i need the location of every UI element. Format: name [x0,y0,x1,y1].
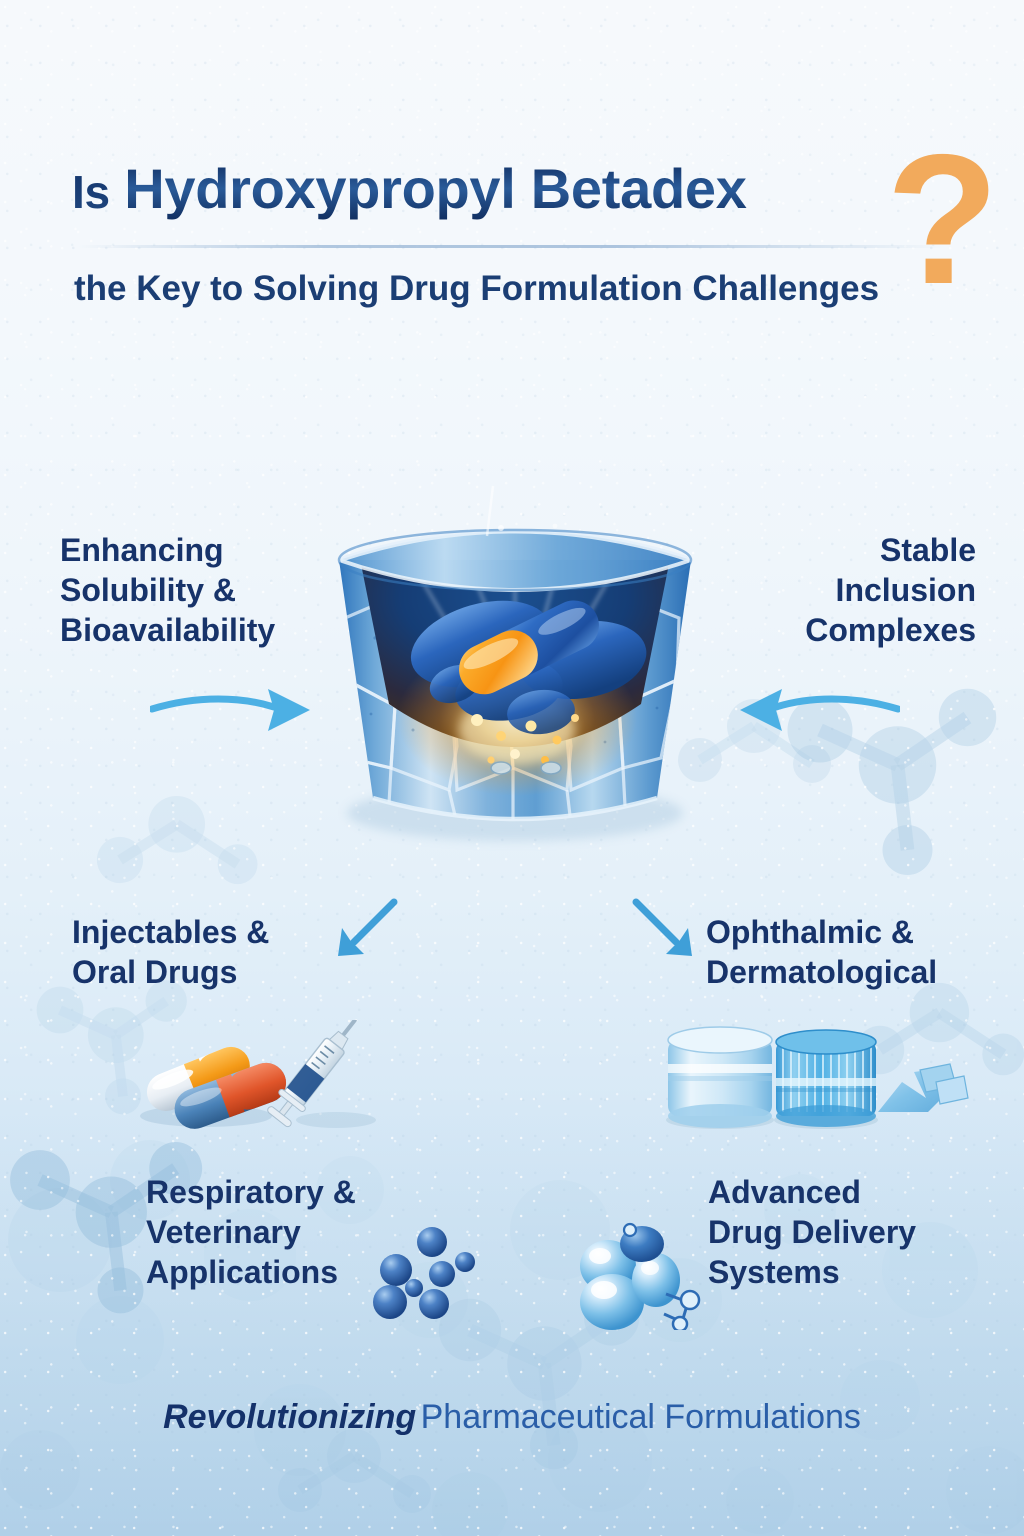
arrow-right-icon [150,675,320,745]
footer-rest: Pharmaceutical Formulations [421,1398,861,1436]
title-prefix: Is [72,166,110,218]
callout-solubility: Enhancing Solubility & Bioavailability [60,530,275,650]
callout-respiratory-line-1: Respiratory & [146,1172,356,1212]
callout-ophthalmic-line-1: Ophthalmic & [706,912,937,952]
callout-solubility-line-2: Solubility & [60,570,275,610]
question-mark-accent: ? [886,128,999,313]
callout-inclusion-line-1: Stable [805,530,976,570]
blue-molecule-spheres-icon [366,1226,476,1327]
callout-respiratory-line-3: Applications [146,1252,356,1292]
arrow-down-right-icon [630,898,702,960]
callout-injectables-line-2: Oral Drugs [72,952,269,992]
callout-ophthalmic: Ophthalmic & Dermatological [706,912,937,992]
callout-delivery-line-1: Advanced [708,1172,916,1212]
footer-emphasis: Revolutionizing [163,1398,416,1436]
capsules-and-syringe-icon [128,1020,398,1135]
callout-solubility-line-1: Enhancing [60,530,275,570]
callout-injectables-line-1: Injectables & [72,912,269,952]
page-subtitle: the Key to Solving Drug Formulation Chal… [74,268,879,310]
arrow-left-icon [730,675,900,745]
callout-solubility-line-3: Bioavailability [60,610,275,650]
callout-inclusion: Stable Inclusion Complexes [805,530,976,650]
callout-respiratory-line-2: Veterinary [146,1212,356,1252]
liposome-vesicles-icon [570,1218,740,1335]
callout-inclusion-line-3: Complexes [805,610,976,650]
title-main: Hydroxypropyl Betadex [124,157,746,220]
cyclodextrin-cone-with-capsule-icon [305,468,725,858]
title-divider [78,245,946,248]
callout-ophthalmic-line-2: Dermatological [706,952,937,992]
callout-respiratory: Respiratory & Veterinary Applications [146,1172,356,1292]
infographic-poster: Is Hydroxypropyl Betadex ? the Key to So… [0,0,1024,1536]
cream-jars-and-patches-icon [650,1020,970,1135]
page-title-line1: Is Hydroxypropyl Betadex [72,158,747,223]
callout-injectables: Injectables & Oral Drugs [72,912,269,992]
arrow-down-left-icon [328,898,400,960]
footer-tagline: Revolutionizing Pharmaceutical Formulati… [0,1398,1024,1437]
callout-inclusion-line-2: Inclusion [805,570,976,610]
